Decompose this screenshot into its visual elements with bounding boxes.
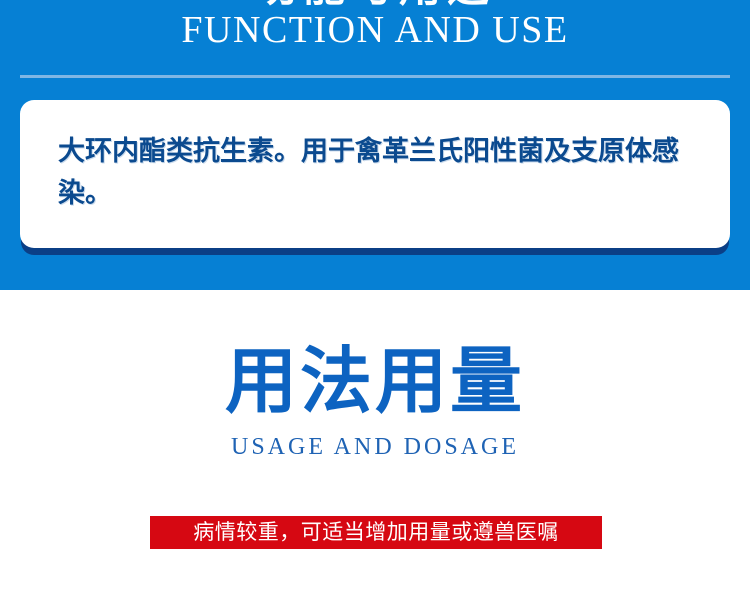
function-info-card-text: 大环内酯类抗生素。用于禽革兰氏阳性菌及支原体感染。	[58, 130, 703, 214]
usage-section-title-cn: 用法用量	[0, 340, 750, 424]
usage-and-dosage-section: 用法用量 USAGE AND DOSAGE 病情较重，可适当增加用量或遵兽医嘱	[0, 290, 750, 589]
dosage-notice-text: 病情较重，可适当增加用量或遵兽医嘱	[193, 521, 559, 544]
function-and-use-section: 功能与用途 FUNCTION AND USE 大环内酯类抗生素。用于禽革兰氏阳性…	[0, 0, 750, 290]
dosage-notice-banner: 病情较重，可适当增加用量或遵兽医嘱	[150, 516, 602, 549]
function-section-divider	[20, 75, 730, 78]
function-section-title-en: FUNCTION AND USE	[0, 7, 750, 53]
usage-section-title-en: USAGE AND DOSAGE	[0, 433, 750, 461]
function-info-card: 大环内酯类抗生素。用于禽革兰氏阳性菌及支原体感染。	[20, 100, 730, 248]
